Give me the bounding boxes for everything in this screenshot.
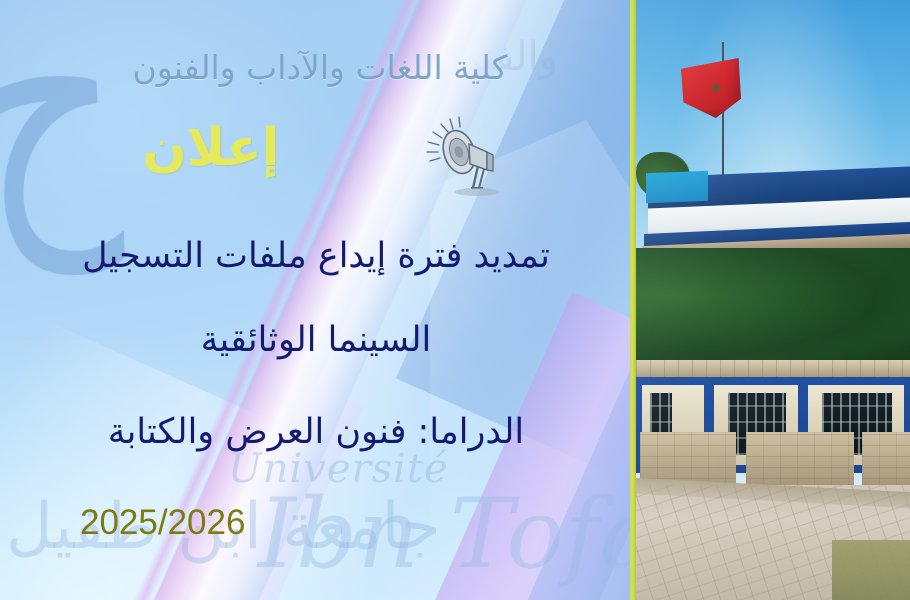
faculty-heading: كلية اللغات والآداب والفنون — [56, 48, 584, 87]
flag-star-icon: ✦ — [708, 82, 724, 98]
vertical-divider — [630, 0, 636, 600]
stone-parapet-texture — [862, 432, 910, 490]
announcement-title: إعلان — [0, 118, 422, 178]
campus-building-photo: ✦ — [636, 0, 910, 600]
stone-cornice-texture — [636, 360, 910, 378]
foliage-band — [636, 248, 910, 368]
announcement-poster: ح والفنون جامعة ابن طفيل Université Ibn … — [0, 0, 910, 600]
announcement-line-2: السينما الوثائقية — [0, 320, 632, 360]
grass-patch — [832, 540, 910, 600]
stone-parapet-texture — [746, 432, 854, 490]
poster-content: كلية اللغات والآداب والفنون إعلان — [0, 0, 632, 600]
megaphone-icon — [421, 112, 507, 204]
academic-year: 2025/2026 — [80, 503, 245, 543]
announcement-panel: ح والفنون جامعة ابن طفيل Université Ibn … — [0, 0, 632, 600]
announcement-line-1: تمديد فترة إيداع ملفات التسجيل — [0, 236, 632, 276]
announcement-line-3: الدراما: فنون العرض والكتابة — [0, 412, 632, 452]
roof-band-light-blue — [646, 171, 708, 204]
